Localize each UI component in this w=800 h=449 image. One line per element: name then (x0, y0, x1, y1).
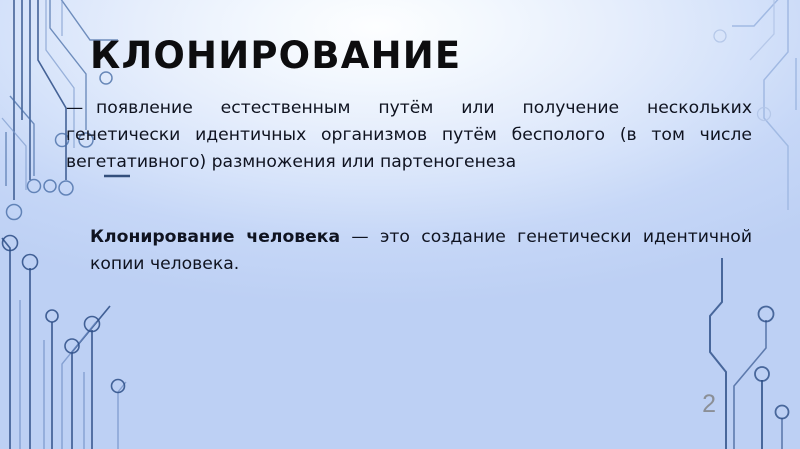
slide-canvas: КЛОНИРОВАНИЕ —появление естественным пут… (0, 0, 800, 449)
term-separator: — (340, 227, 380, 247)
human-cloning-term: Клонирование человека (90, 227, 340, 247)
definition-paragraph: —появление естественным путём или получе… (66, 95, 752, 176)
page-title: КЛОНИРОВАНИЕ (66, 34, 752, 78)
human-cloning-paragraph: Клонирование человека — это создание ген… (66, 224, 752, 278)
slide-content: КЛОНИРОВАНИЕ —появление естественным пут… (66, 34, 752, 278)
page-number: 2 (702, 392, 716, 417)
em-dash-marker: — (66, 95, 96, 122)
definition-text: появление естественным путём или получен… (66, 98, 752, 172)
